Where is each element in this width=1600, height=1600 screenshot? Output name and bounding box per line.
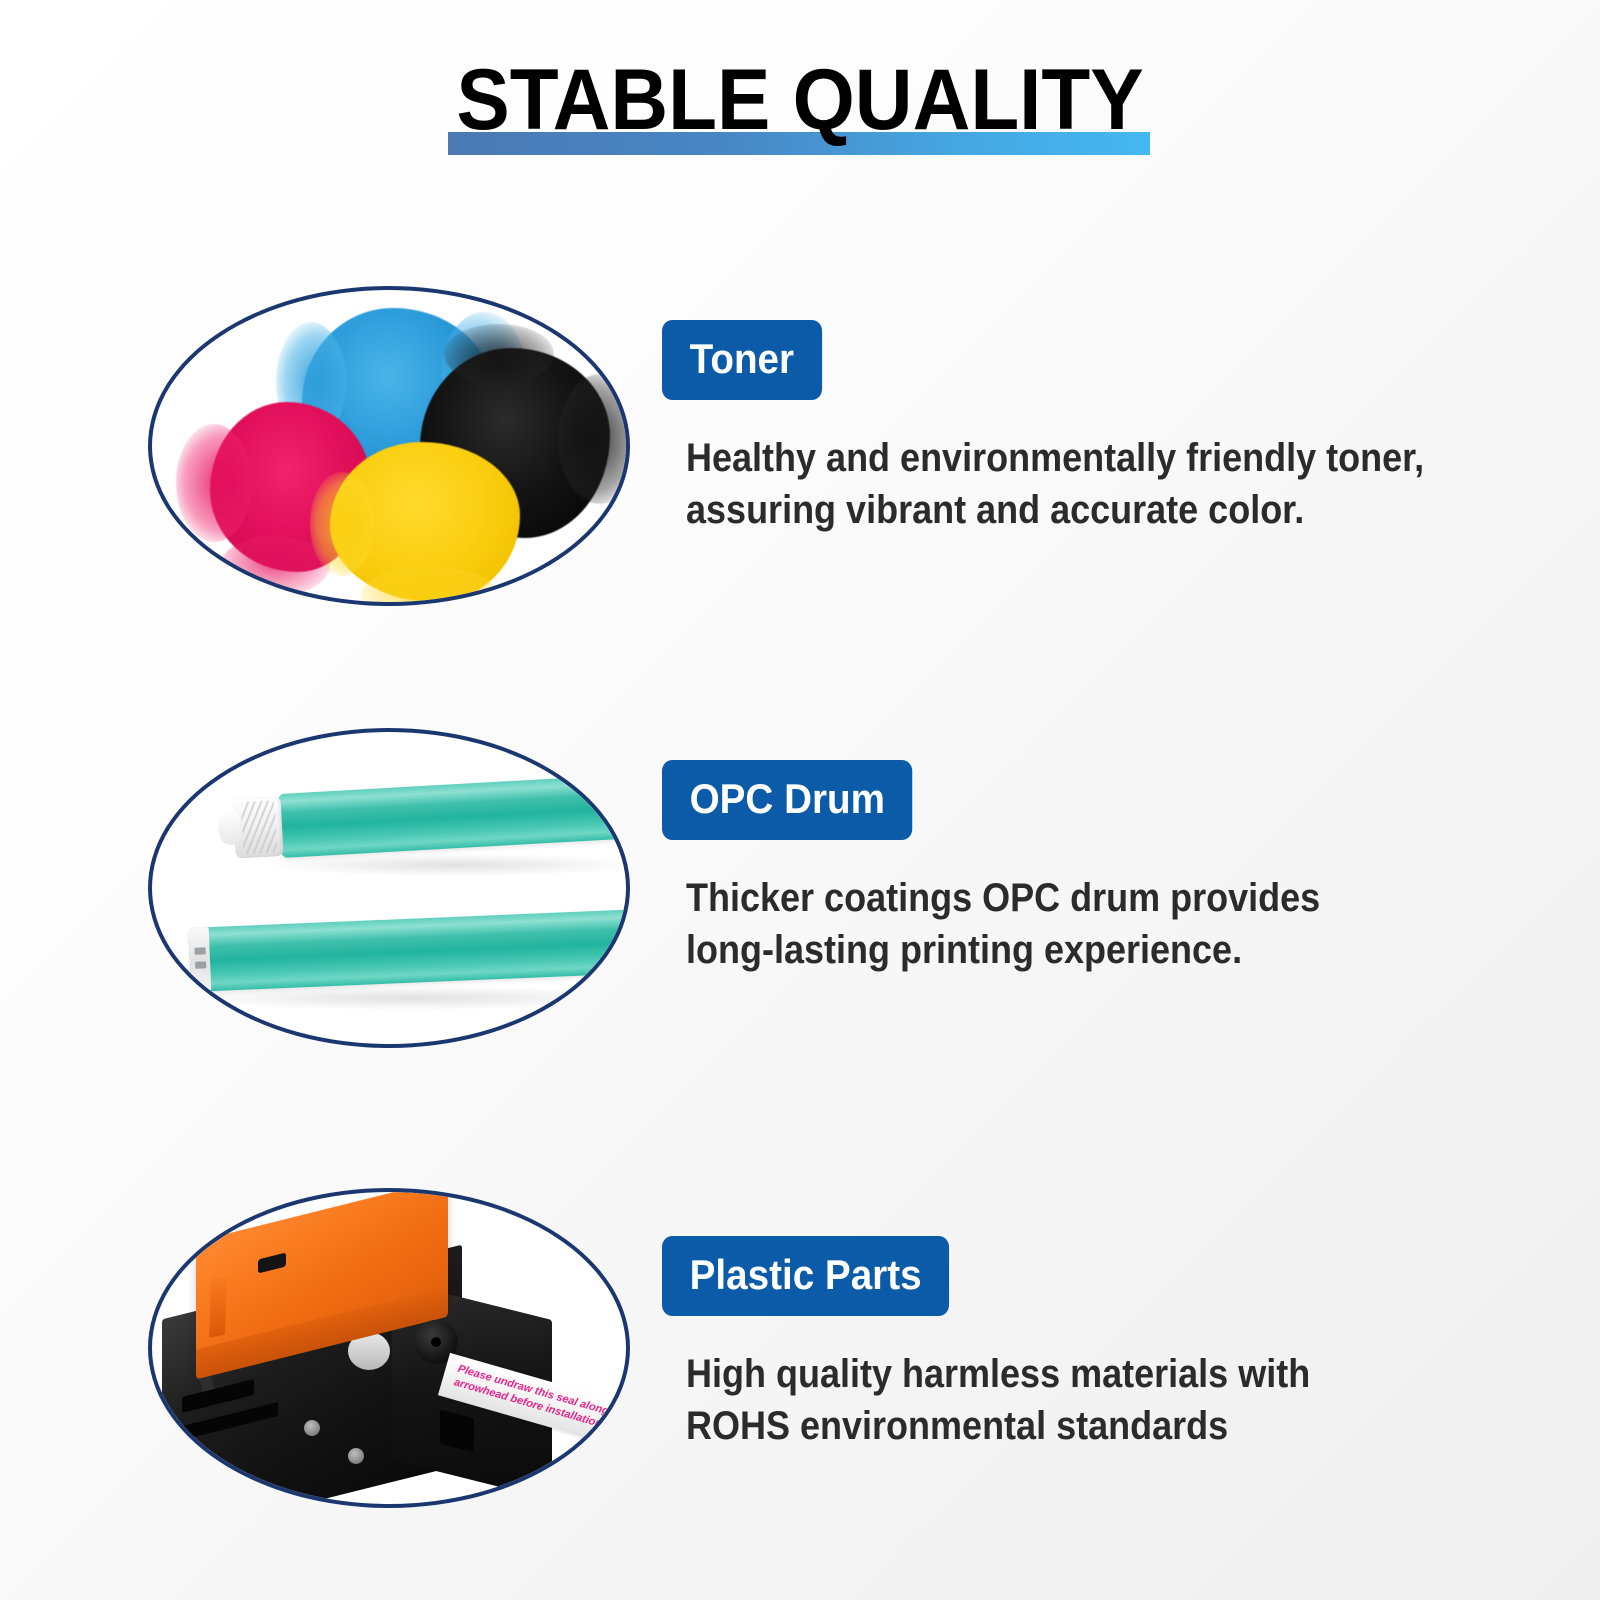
toner-photo xyxy=(152,290,626,602)
toner-pile-yellow-icon xyxy=(330,442,520,602)
drum-shadow xyxy=(186,986,626,1010)
feature-row-opc-drum: OPC Drum Thicker coatings OPC drum provi… xyxy=(0,712,1600,1072)
badge-plastic-parts: Plastic Parts xyxy=(662,1236,949,1316)
opc-drum-photo xyxy=(152,732,626,1044)
feature-row-plastic-parts: Please undraw this seal along the arrowh… xyxy=(0,1172,1600,1532)
drum-shadow xyxy=(268,854,626,876)
badge-opc-drum: OPC Drum xyxy=(662,760,913,840)
drum-end-cap-icon xyxy=(189,927,212,992)
feature-row-toner: Toner Healthy and environmentally friend… xyxy=(0,270,1600,630)
orange-cap-lip xyxy=(209,1276,227,1338)
opc-drum-cylinder-icon xyxy=(278,773,626,858)
description-opc-drum: Thicker coatings OPC drum provides long-… xyxy=(686,872,1320,976)
infographic-page: STABLE QUALITY Toner Healthy and environ… xyxy=(0,0,1600,1600)
page-title: STABLE QUALITY xyxy=(56,52,1544,148)
cartridge-screw xyxy=(348,1448,364,1464)
badge-toner: Toner xyxy=(662,320,822,400)
description-toner: Healthy and environmentally friendly ton… xyxy=(686,432,1424,536)
plastic-parts-image-frame: Please undraw this seal along the arrowh… xyxy=(148,1188,630,1508)
toner-image-frame xyxy=(148,286,630,606)
plastic-parts-photo: Please undraw this seal along the arrowh… xyxy=(152,1192,626,1504)
description-plastic-parts: High quality harmless materials with ROH… xyxy=(686,1348,1310,1452)
drum-gear-teeth xyxy=(241,800,278,854)
opc-drum-image-frame xyxy=(148,728,630,1048)
page-header: STABLE QUALITY xyxy=(0,52,1600,162)
drum-gear-cap-icon xyxy=(232,796,283,859)
cartridge-screw xyxy=(304,1420,320,1436)
opc-drum-cylinder-icon xyxy=(189,909,626,992)
